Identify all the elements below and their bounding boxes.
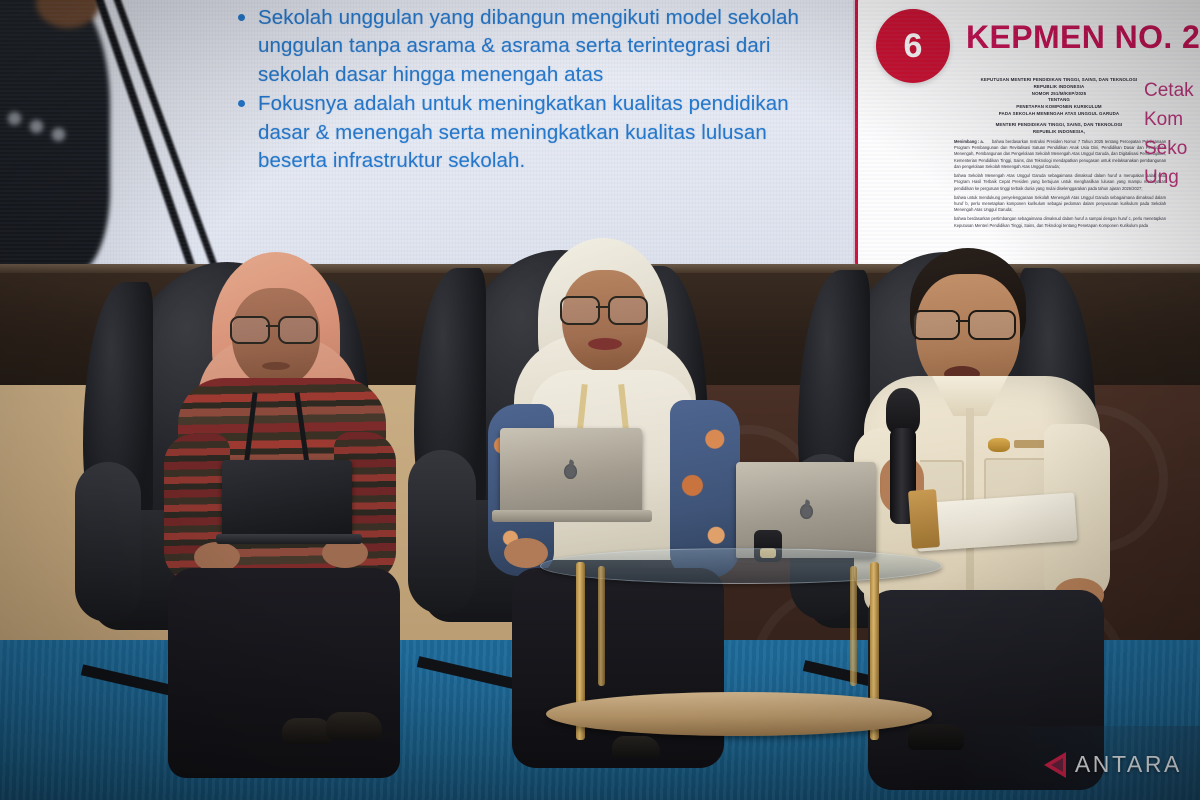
table-leg-back-left bbox=[598, 566, 605, 686]
doc-head-line-6: PADA SEKOLAH MENENGAH ATAS UNGGUL GARUDA bbox=[954, 111, 1164, 118]
doc-head-line-4: TENTANG bbox=[954, 97, 1164, 104]
shoe-center-1 bbox=[612, 736, 660, 758]
mouth-left bbox=[262, 362, 290, 370]
doc-body-c: bahwa untuk mendukung penyelenggaraan Se… bbox=[954, 195, 1166, 214]
doc-signatory-line-1: MENTERI PENDIDIKAN TINGGI, SAINS, DAN TE… bbox=[954, 122, 1164, 129]
projection-screen: Sekolah unggulan yang dibangun mengikuti… bbox=[0, 0, 1200, 268]
document-header: KEPUTUSAN MENTERI PENDIDIKAN TINGGI, SAI… bbox=[954, 77, 1164, 136]
coffee-table-wood-shelf bbox=[546, 692, 932, 736]
slide-number-badge: 6 bbox=[876, 9, 950, 83]
right-col-line-3: Seko bbox=[1144, 135, 1194, 164]
slide-right-column: Cetak Kom Seko Ung bbox=[1144, 77, 1194, 193]
doc-head-line-5: PENETAPAN KOMPONEN KURIKULUM bbox=[954, 104, 1164, 111]
slide-kepmen-panel: 6 KEPMEN NO. 251/ KEPUTUSAN MENTERI PEND… bbox=[855, 0, 1200, 268]
slide-bullet-1: Sekolah unggulan yang dibangun mengikuti… bbox=[232, 4, 802, 89]
doc-head-line-2: REPUBLIK INDONESIA bbox=[954, 84, 1164, 91]
right-col-line-1: Cetak bbox=[1144, 77, 1194, 106]
antara-logo-icon bbox=[1044, 752, 1066, 778]
slide-bullet-2: Fokusnya adalah untuk meningkatkan kuali… bbox=[232, 90, 802, 175]
slide-bullet-list: Sekolah unggulan yang dibangun mengikuti… bbox=[232, 4, 802, 176]
skirt-left bbox=[168, 568, 400, 778]
antara-watermark: ANTARA bbox=[1044, 751, 1182, 778]
right-col-line-2: Kom bbox=[1144, 106, 1194, 135]
photo-stage: Sekolah unggulan yang dibangun mengikuti… bbox=[0, 0, 1200, 800]
table-leg-back-right bbox=[850, 566, 857, 686]
doc-signatory-line-2: REPUBLIK INDONESIA, bbox=[954, 129, 1164, 136]
shoe-left-2 bbox=[326, 712, 382, 740]
doc-head-line-1: KEPUTUSAN MENTERI PENDIDIKAN TINGGI, SAI… bbox=[954, 77, 1164, 84]
doc-body-b: bahwa Sekolah Menengah Atas Unggul Garud… bbox=[954, 173, 1166, 192]
doc-body-d: bahwa berdasarkan pertimbangan sebagaima… bbox=[954, 216, 1166, 228]
doc-head-line-3: NOMOR 251/M/KEP/2025 bbox=[954, 91, 1164, 98]
foreground-blurred-person bbox=[0, 0, 110, 268]
shoe-right-1 bbox=[908, 724, 964, 750]
mouth-center bbox=[588, 338, 622, 350]
right-col-line-4: Ung bbox=[1144, 164, 1194, 193]
shirt-emblem-right bbox=[988, 438, 1010, 452]
notebook-cover-right bbox=[908, 489, 940, 549]
slide-kepmen-title: KEPMEN NO. 251/ bbox=[966, 19, 1200, 56]
antara-brand-text: ANTARA bbox=[1075, 751, 1182, 778]
document-body: Menimbang : a.bahwa berdasarkan Instruks… bbox=[954, 139, 1166, 232]
shirt-nametag-right bbox=[1014, 440, 1046, 448]
